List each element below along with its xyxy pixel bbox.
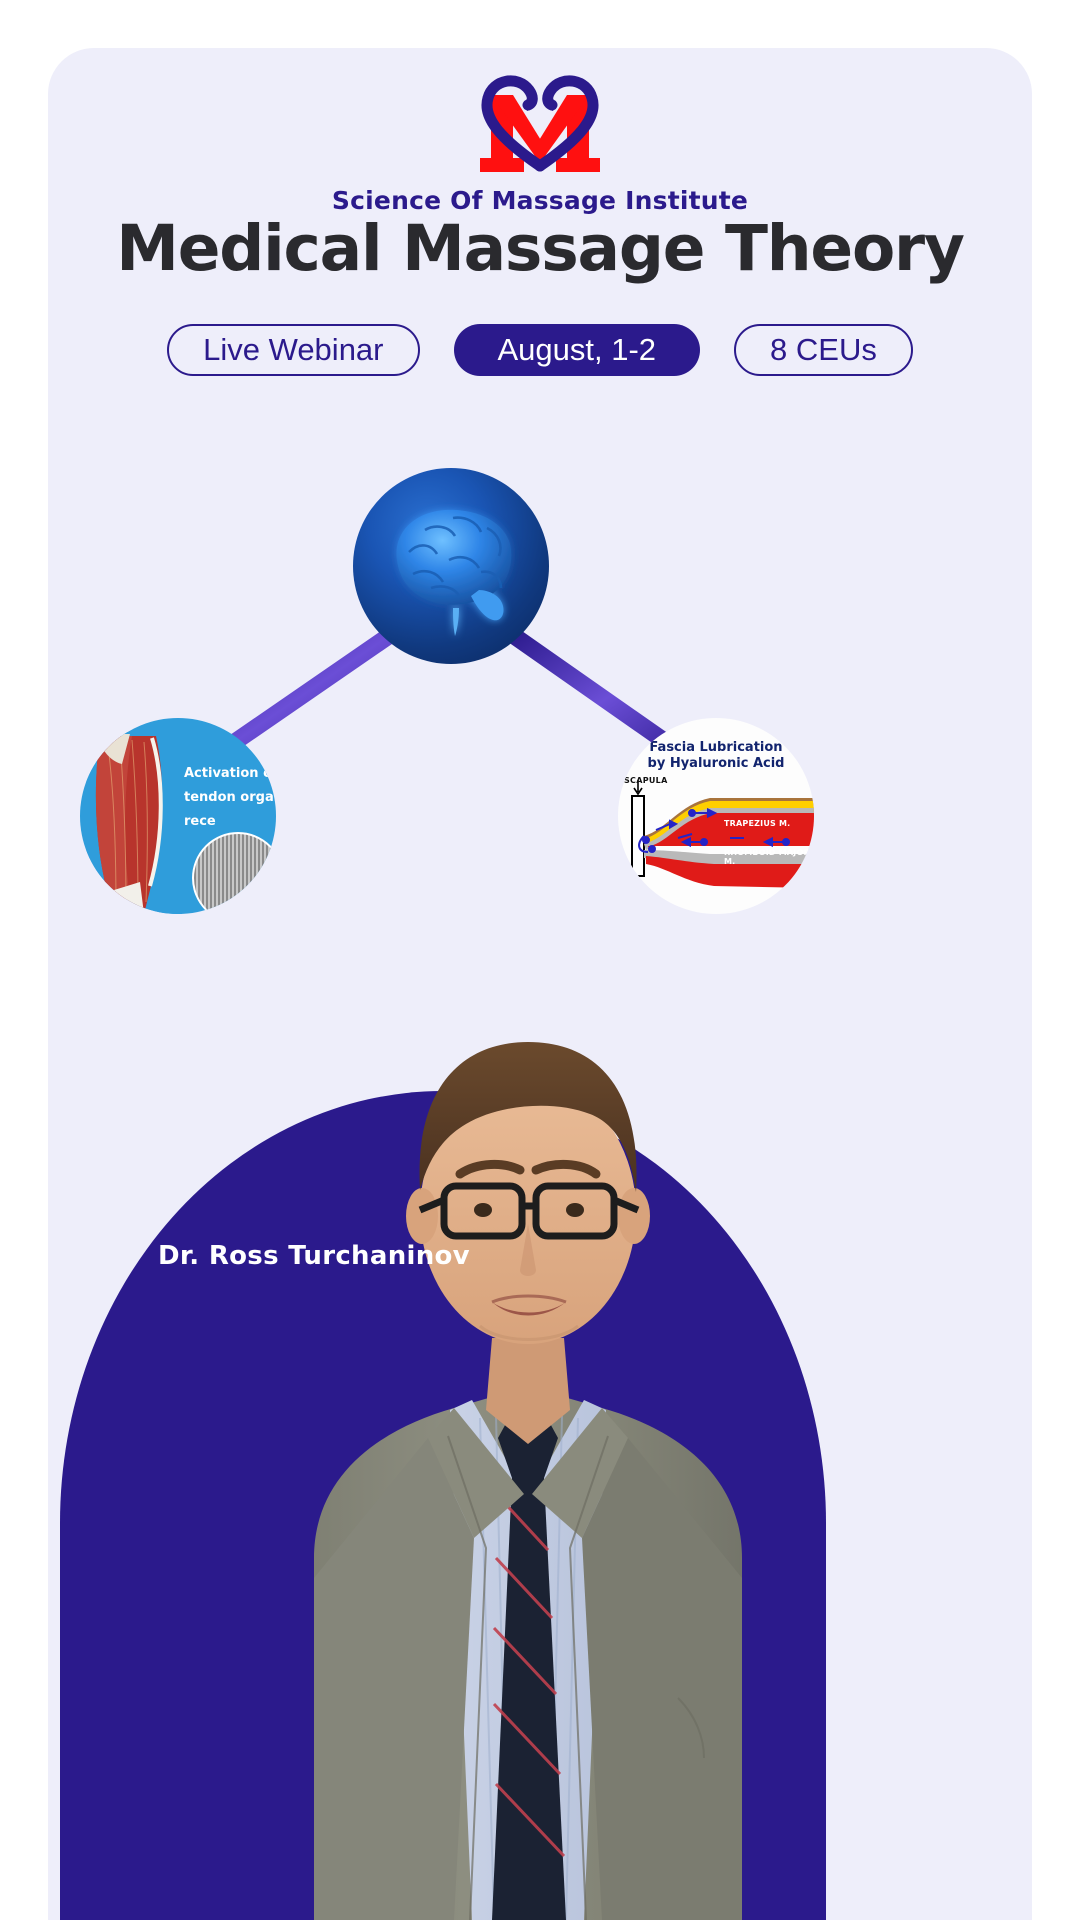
page-title: Medical Massage Theory bbox=[48, 216, 1032, 282]
badge-date[interactable]: August, 1-2 bbox=[454, 324, 701, 376]
brain-sphere-icon bbox=[353, 468, 549, 664]
rhomboid-label: RHOMBOID MAJOR M. bbox=[724, 848, 814, 866]
som-heart-m-logo-icon bbox=[466, 62, 614, 180]
brain-node bbox=[353, 468, 549, 664]
tissue-inset-icon bbox=[192, 832, 276, 914]
brand-logo-block: Science Of Massage Institute bbox=[48, 62, 1032, 215]
muscle-anatomy-icon bbox=[86, 732, 182, 914]
poster-card: Science Of Massage Institute Medical Mas… bbox=[48, 48, 1032, 1920]
scapula-label: SCAPULA bbox=[624, 776, 668, 785]
badge-live-webinar[interactable]: Live Webinar bbox=[167, 324, 419, 376]
golgi-caption-line1: Activation of G bbox=[184, 762, 276, 786]
golgi-caption: Activation of G tendon organ rece bbox=[184, 762, 276, 834]
golgi-tendon-node: Activation of G tendon organ rece bbox=[80, 718, 276, 914]
golgi-caption-line2: tendon organ rece bbox=[184, 786, 276, 834]
badge-ceus[interactable]: 8 CEUs bbox=[734, 324, 913, 376]
presenter-portrait bbox=[248, 938, 808, 1920]
badge-row: Live Webinar August, 1-2 8 CEUs bbox=[48, 324, 1032, 376]
concept-triangle-diagram: Activation of G tendon organ rece Fascia… bbox=[48, 418, 1032, 958]
institute-name: Science Of Massage Institute bbox=[332, 186, 748, 215]
fascia-diagram-icon bbox=[618, 718, 814, 914]
fascia-node: Fascia Lubrication by Hyaluronic Acid bbox=[618, 718, 814, 914]
presenter-name: Dr. Ross Turchaninov bbox=[158, 1241, 470, 1271]
trapezius-label: TRAPEZIUS M. bbox=[724, 819, 790, 828]
poster-page: Science Of Massage Institute Medical Mas… bbox=[0, 0, 1080, 1920]
